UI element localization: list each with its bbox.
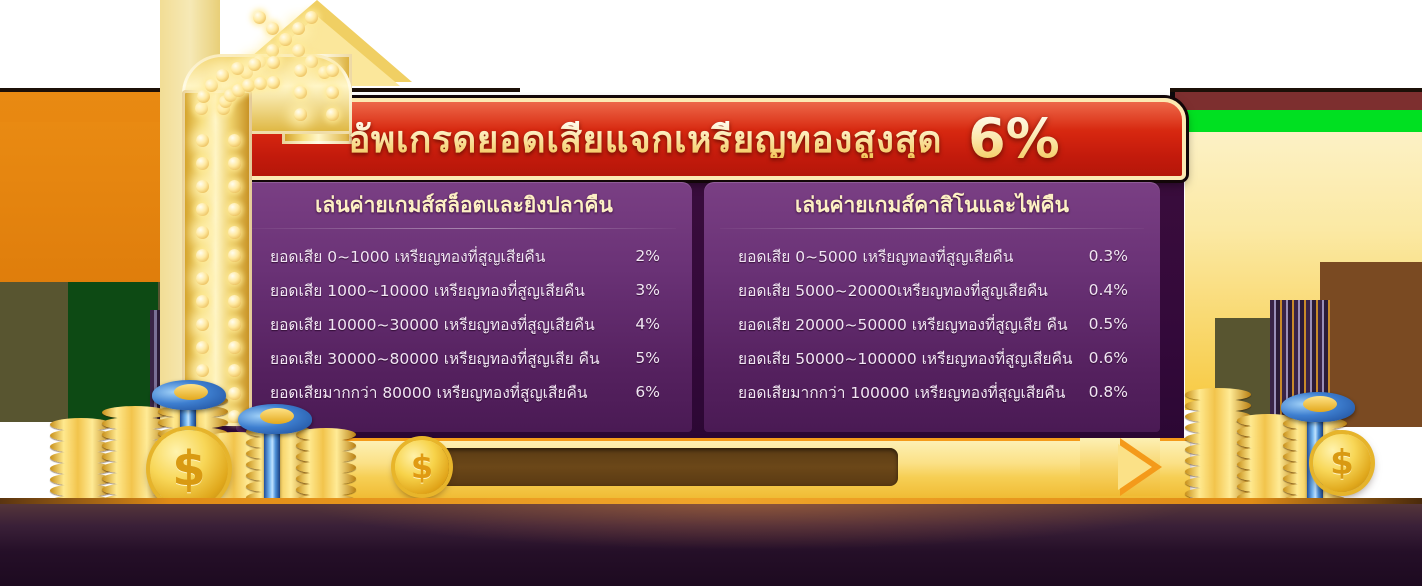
floor-top-edge xyxy=(0,498,1422,504)
marquee-bulb xyxy=(196,341,209,354)
marquee-bulb xyxy=(267,76,280,89)
panel-header-casino: เล่นค่ายเกมส์คาสิโนและไพ่คืน xyxy=(704,182,1160,228)
rebate-tier-label: ยอดเสียมากกว่า 100000 เหรียญทองที่สูญเสี… xyxy=(726,380,1065,405)
marquee-bulb xyxy=(196,249,209,262)
marquee-bulb xyxy=(326,64,339,77)
rebate-tier-value: 0.5% xyxy=(1089,315,1138,333)
marquee-bulb xyxy=(294,64,307,77)
floor-glow xyxy=(300,500,1200,550)
marquee-bulb xyxy=(228,272,241,285)
promo-banner: อัพเกรดยอดเสียแจกเหรียญทองสูงสุด 6% เล่น… xyxy=(0,0,1422,586)
coin-pile-right: $ xyxy=(1185,372,1375,512)
ribbon-bow-gold-accent xyxy=(1303,396,1337,412)
marquee-bulb xyxy=(228,180,241,193)
coin-symbol: $ xyxy=(1330,443,1354,483)
marquee-bulb xyxy=(196,134,209,147)
rebate-tier-value: 6% xyxy=(635,383,670,401)
marquee-bulb xyxy=(267,56,280,69)
cta-input-field[interactable] xyxy=(438,448,898,486)
marquee-bulb xyxy=(294,108,307,121)
marquee-bulb xyxy=(228,226,241,239)
marquee-bulb xyxy=(292,44,305,57)
rebate-tier-value: 0.8% xyxy=(1089,383,1138,401)
marquee-bulb xyxy=(196,203,209,216)
marquee-bulb xyxy=(196,295,209,308)
background-green-bar-right xyxy=(1185,110,1422,132)
rebate-tier-value: 0.6% xyxy=(1089,349,1138,367)
rebate-list-casino: ยอดเสีย 0~5000 เหรียญทองที่สูญเสียคืน 0.… xyxy=(704,229,1160,409)
rebate-tier-value: 5% xyxy=(635,349,670,367)
marquee-bulb xyxy=(195,102,208,115)
marquee-bulb xyxy=(196,157,209,170)
rebate-tier-value: 0.4% xyxy=(1089,281,1138,299)
marquee-bulb xyxy=(305,55,318,68)
marquee-bulb xyxy=(197,90,210,103)
marquee-bulb xyxy=(294,86,307,99)
marquee-bulb xyxy=(196,180,209,193)
marquee-bulb xyxy=(326,108,339,121)
marquee-bulb xyxy=(228,318,241,331)
marquee-bulb xyxy=(196,272,209,285)
dollar-coin-icon: $ xyxy=(150,430,228,508)
dollar-coin-icon: $ xyxy=(395,440,449,494)
marquee-bulb xyxy=(205,79,218,92)
marquee-bulb xyxy=(242,79,255,92)
marquee-bulb xyxy=(216,69,229,82)
marquee-bulb xyxy=(279,33,292,46)
title-highlight-percent: 6% xyxy=(968,112,1060,166)
rebate-tier-label: ยอดเสีย 20000~50000 เหรียญทองที่สูญเสีย … xyxy=(726,312,1068,337)
marquee-bulb xyxy=(292,22,305,35)
rebate-tier-value: 3% xyxy=(635,281,670,299)
ribbon-bow-gold-accent xyxy=(174,384,208,400)
coin-symbol: $ xyxy=(172,441,205,497)
rebate-tier-label: ยอดเสีย 5000~20000เหรียญทองที่สูญเสียคืน xyxy=(726,278,1048,303)
background-darkred-bar-right xyxy=(1170,92,1422,112)
coin-symbol: $ xyxy=(411,451,433,483)
rebate-tier-label: ยอดเสีย 50000~100000 เหรียญทองที่สูญเสีย… xyxy=(726,346,1073,371)
marquee-bulb xyxy=(228,134,241,147)
table-row: ยอดเสีย 50000~100000 เหรียญทองที่สูญเสีย… xyxy=(726,341,1138,375)
table-row: ยอดเสีย 5000~20000เหรียญทองที่สูญเสียคืน… xyxy=(726,273,1138,307)
rebate-tier-value: 4% xyxy=(635,315,670,333)
marquee-bulb xyxy=(326,86,339,99)
marquee-bulb xyxy=(228,341,241,354)
marquee-bulb xyxy=(254,77,267,90)
coin-pile-left: $ xyxy=(40,358,350,518)
rebate-tier-value: 0.3% xyxy=(1089,247,1138,265)
panel-header-label: เล่นค่ายเกมส์คาสิโนและไพ่คืน xyxy=(795,189,1069,222)
table-row: ยอดเสีย 20000~50000 เหรียญทองที่สูญเสีย … xyxy=(726,307,1138,341)
marquee-bulb xyxy=(248,58,261,71)
rebate-tier-label: ยอดเสีย 0~5000 เหรียญทองที่สูญเสียคืน xyxy=(726,244,1013,269)
gold-bar-notch-inner xyxy=(1118,444,1152,490)
marquee-bulb xyxy=(266,22,279,35)
marquee-bulb xyxy=(196,226,209,239)
marquee-bulb xyxy=(228,249,241,262)
rebate-tier-value: 2% xyxy=(635,247,670,265)
marquee-bulb xyxy=(305,11,318,24)
ribbon-bow-gold-accent xyxy=(260,408,294,424)
table-row: ยอดเสียมากกว่า 100000 เหรียญทองที่สูญเสี… xyxy=(726,375,1138,409)
page-title: อัพเกรดยอดเสียแจกเหรียญทองสูงสุด xyxy=(348,121,942,158)
panel-casino-cards: เล่นค่ายเกมส์คาสิโนและไพ่คืน ยอดเสีย 0~5… xyxy=(704,182,1160,432)
table-row: ยอดเสีย 0~5000 เหรียญทองที่สูญเสียคืน 0.… xyxy=(726,239,1138,273)
marquee-bulb xyxy=(228,203,241,216)
marquee-bulb xyxy=(228,295,241,308)
marquee-bulb xyxy=(253,11,266,24)
dollar-coin-icon: $ xyxy=(1313,434,1371,492)
marquee-bulb xyxy=(196,318,209,331)
marquee-bulb xyxy=(228,157,241,170)
